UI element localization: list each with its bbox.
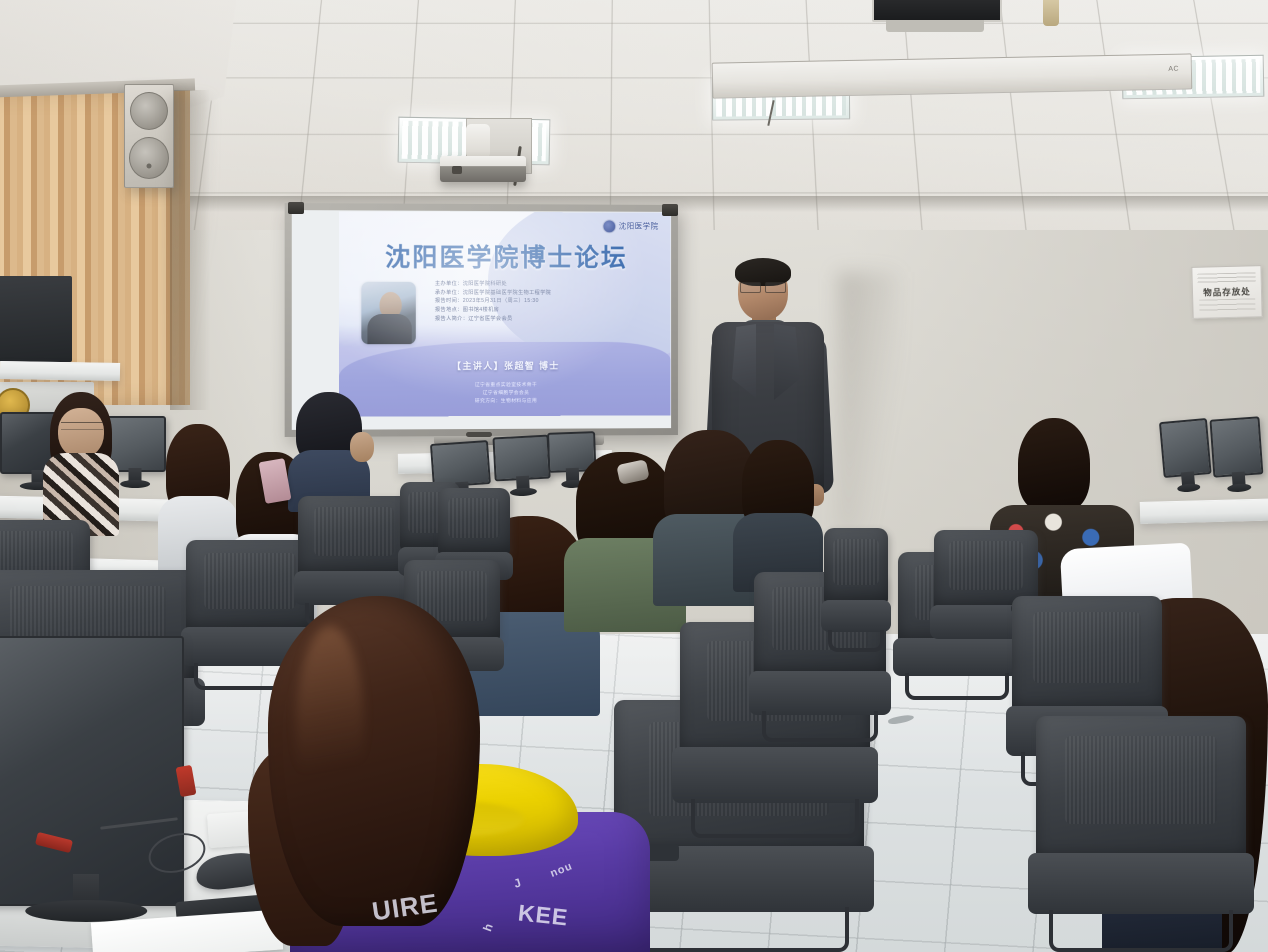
chair	[1036, 716, 1246, 952]
affiliation-line: 研究方向：生物材料与应用	[475, 399, 537, 404]
portrait-body	[367, 314, 411, 344]
monitor-screen	[1209, 416, 1263, 477]
chair-seat	[749, 671, 892, 715]
attendee-hand	[350, 432, 374, 462]
college-logo: 沈阳医学院	[602, 219, 659, 233]
wall-speaker	[124, 84, 174, 188]
computer-monitor	[1159, 418, 1213, 494]
chair-back	[1012, 596, 1162, 714]
affiliation-line: 辽宁省重点实验室技术骨干	[475, 382, 537, 387]
chair-back	[438, 488, 510, 556]
logo-emblem-icon	[602, 219, 616, 233]
monitor-screen	[492, 435, 550, 482]
sign-text-lines-bottom	[1199, 298, 1255, 311]
ceiling-sprinkler-icon	[1043, 0, 1059, 26]
chair-legs	[828, 630, 884, 652]
monitor-base	[120, 480, 150, 488]
computer-monitor-foreground	[0, 636, 184, 922]
slide-meta-line: 承办单位：沈阳医学院基础医学院生物工程学院	[435, 291, 624, 297]
slide-meta-line: 主办单位：沈阳医学院科研处	[435, 282, 624, 288]
projector-lens-icon	[452, 166, 462, 174]
lab-desk	[1140, 498, 1268, 524]
affiliation-line: 辽宁省细胞学会会员	[483, 391, 530, 396]
desktop-pc-tower	[0, 276, 72, 362]
attendee	[742, 440, 814, 592]
slide-detail-line: 报告人简介：辽宁省医学会会员	[435, 317, 624, 322]
chair-seat	[672, 747, 877, 803]
sign-text-lines-top	[1198, 272, 1256, 284]
monitor-screen	[430, 440, 491, 488]
wall-notice-sign: 物品存放处	[1191, 265, 1262, 319]
glasses-icon	[740, 282, 786, 291]
speaker-portrait-photo	[361, 282, 415, 344]
hair	[1018, 418, 1090, 513]
sign-heading: 物品存放处	[1193, 285, 1261, 299]
slide-meta-block: 主办单位：沈阳医学院科研处 承办单位：沈阳医学院基础医学院生物工程学院 报告时间…	[435, 282, 624, 325]
chair-back	[298, 496, 410, 577]
hoodie-print-text: KEE	[517, 899, 570, 931]
speaker-driver-lower	[129, 137, 169, 179]
lab-desk	[0, 361, 120, 381]
attendee-woman-with-glasses	[50, 392, 112, 530]
speaker-driver-upper	[130, 92, 168, 130]
slide-speaker-line: 【主讲人】张超智 博士	[339, 359, 670, 373]
board-corner-bracket	[288, 202, 304, 214]
chair-legs	[905, 673, 1009, 700]
chair-legs	[1049, 910, 1234, 952]
ceiling-camera-icon	[872, 0, 1002, 22]
slide-detail-line: 报告地点：图书馆4楼机房	[435, 308, 624, 313]
logo-text: 沈阳医学院	[619, 223, 659, 231]
chair-legs	[762, 711, 878, 742]
projector-arm	[466, 124, 490, 158]
attendee-purple-hoodie: UIRE KEE nou h J	[232, 596, 652, 952]
glasses-icon	[61, 422, 103, 430]
face	[58, 408, 104, 458]
speaker-dot	[147, 164, 152, 169]
monitor-base	[510, 487, 537, 496]
hair-highlight	[296, 626, 364, 826]
classroom-photo: AC 沈阳医学院 沈阳医学院博士论坛 主办单位：沈阳医学院科研处 承	[0, 0, 1268, 952]
speaker-shadow	[168, 96, 210, 406]
board-corner-bracket	[662, 204, 678, 216]
chair-back	[1036, 716, 1246, 862]
chair-seat	[1028, 853, 1255, 914]
computer-monitor	[1209, 416, 1264, 493]
chair-back	[824, 528, 888, 605]
chair	[824, 528, 888, 652]
slide-affiliation-block: 辽宁省重点实验室技术骨干 辽宁省细胞学会会员 研究方向：生物材料与应用	[339, 381, 670, 407]
slide-detail-line: 报告时间：2023年5月31日（周三）15:30	[435, 299, 624, 305]
monitor-screen	[1159, 418, 1212, 478]
slide-title: 沈阳医学院博士论坛	[361, 238, 650, 275]
ceiling-device-mount	[886, 20, 984, 32]
chair-legs	[691, 799, 858, 838]
monitor-base	[1227, 483, 1251, 493]
duct-label: AC	[1168, 66, 1179, 73]
chair-seat	[821, 600, 890, 632]
whiteboard-marker	[466, 432, 492, 437]
chair-legs	[629, 907, 849, 952]
monitor-base	[25, 900, 147, 922]
projected-slide: 沈阳医学院 沈阳医学院博士论坛 主办单位：沈阳医学院科研处 承办单位：沈阳医学院…	[339, 211, 670, 416]
